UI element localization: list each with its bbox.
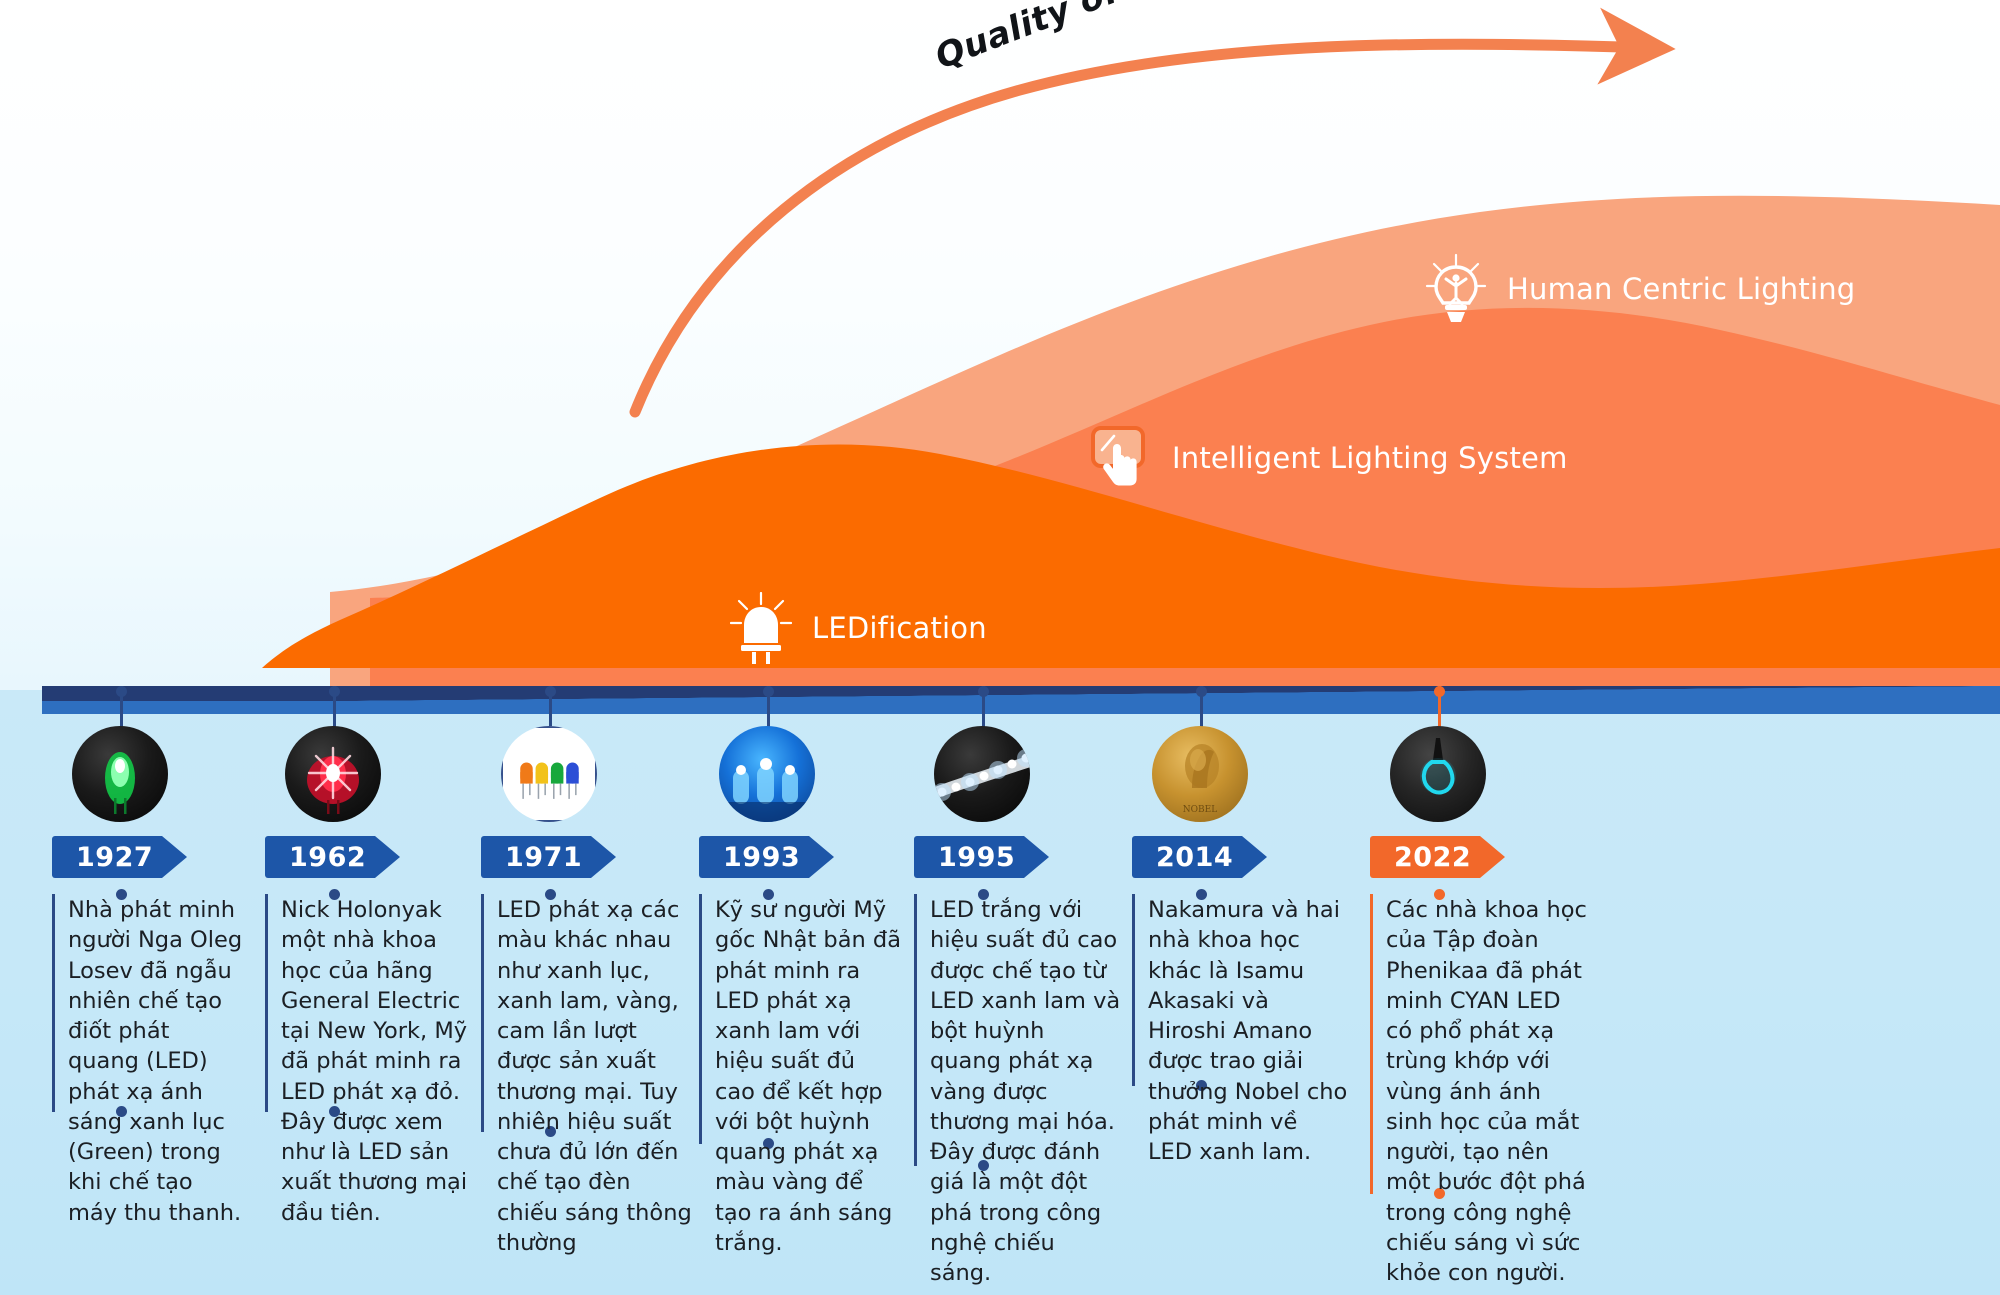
wave-label-text: LEDification — [812, 611, 987, 645]
wave-label-intelligent-lighting-system: Intelligent Lighting System — [1090, 422, 1568, 494]
quality-of-life-arrow — [0, 0, 2000, 420]
year-badge-2014[interactable]: 2014 — [1132, 836, 1233, 878]
connector-dot — [545, 686, 556, 697]
description-text: LED trắng với hiệu suất đủ cao được chế … — [930, 895, 1122, 1288]
wave-label-text: Intelligent Lighting System — [1172, 441, 1568, 475]
nobel-medal-art: NOBEL — [1152, 726, 1248, 822]
thumbnail-multicolor-leds-icon[interactable] — [501, 726, 597, 822]
wave-label-human-centric-lighting: Human Centric Lighting — [1425, 253, 1855, 325]
thumbnail-blue-led-icon[interactable] — [719, 726, 815, 822]
timeline-bar-wedge — [342, 686, 2000, 701]
green-led-art — [72, 726, 168, 822]
year-badge-1927[interactable]: 1927 — [52, 836, 153, 878]
connector-dot — [763, 686, 774, 697]
badge-arrow-tip — [1242, 836, 1267, 878]
connector-dot — [978, 686, 989, 697]
multicolor-leds-art — [503, 728, 595, 820]
svg-text:NOBEL: NOBEL — [1183, 805, 1217, 815]
year-label: 1995 — [914, 842, 1015, 873]
badge-arrow-tip — [1480, 836, 1505, 878]
touchscreen-hand-icon — [1090, 422, 1152, 494]
badge-arrow-tip — [809, 836, 834, 878]
year-label: 1962 — [265, 842, 366, 873]
badge-arrow-tip — [1024, 836, 1049, 878]
year-badge-1971[interactable]: 1971 — [481, 836, 582, 878]
badge-arrow-tip — [375, 836, 400, 878]
description-text: Các nhà khoa học của Tập đoàn Phenikaa đ… — [1386, 895, 1592, 1288]
cyan-led-bulb-art — [1390, 726, 1486, 822]
thumbnail-red-led-icon[interactable] — [285, 726, 381, 822]
description-text: Nick Holonyak một nhà khoa học của hãng … — [281, 895, 475, 1228]
year-label: 1971 — [481, 842, 582, 873]
description-text: Nakamura và hai nhà khoa học khác là Isa… — [1148, 895, 1348, 1167]
thumbnail-green-led-icon[interactable] — [72, 726, 168, 822]
description-text: LED phát xạ các màu khác nhau như xanh l… — [497, 895, 695, 1258]
arrow-path — [635, 44, 1650, 412]
description-rule — [481, 894, 484, 1132]
description-rule — [52, 894, 55, 1112]
thumbnail-cyan-led-bulb-icon[interactable] — [1390, 726, 1486, 822]
year-badge-1962[interactable]: 1962 — [265, 836, 366, 878]
year-badge-1995[interactable]: 1995 — [914, 836, 1015, 878]
description-rule — [265, 894, 268, 1112]
description-text: Kỹ sư người Mỹ gốc Nhật bản đã phát minh… — [715, 895, 901, 1258]
connector-dot — [1196, 686, 1207, 697]
connector-dot — [329, 686, 340, 697]
bulb-person-icon — [1425, 253, 1487, 325]
wave-label-text: Human Centric Lighting — [1507, 272, 1855, 306]
description-rule — [1370, 894, 1373, 1194]
white-led-strip-art — [934, 726, 1030, 822]
connector-dot — [1434, 686, 1445, 697]
description-text: Nhà phát minh người Nga Oleg Losev đã ng… — [68, 895, 246, 1228]
year-label: 1993 — [699, 842, 800, 873]
year-label: 2014 — [1132, 842, 1233, 873]
blue-led-art — [719, 726, 815, 822]
year-badge-1993[interactable]: 1993 — [699, 836, 800, 878]
badge-arrow-tip — [591, 836, 616, 878]
thumbnail-white-led-strip-icon[interactable] — [934, 726, 1030, 822]
description-rule — [1132, 894, 1135, 1086]
led-lamp-icon — [730, 592, 792, 664]
red-led-art — [285, 726, 381, 822]
thumbnail-nobel-medal-icon[interactable]: NOBEL — [1152, 726, 1248, 822]
wave-label-ledification: LEDification — [730, 592, 987, 664]
description-rule — [914, 894, 917, 1166]
badge-arrow-tip — [162, 836, 187, 878]
year-label: 2022 — [1370, 842, 1471, 873]
year-label: 1927 — [52, 842, 153, 873]
infographic-root: Quality of life Human Centric Lighting I… — [0, 0, 2000, 1295]
description-rule — [699, 894, 702, 1144]
year-badge-2022[interactable]: 2022 — [1370, 836, 1471, 878]
connector-dot — [116, 686, 127, 697]
